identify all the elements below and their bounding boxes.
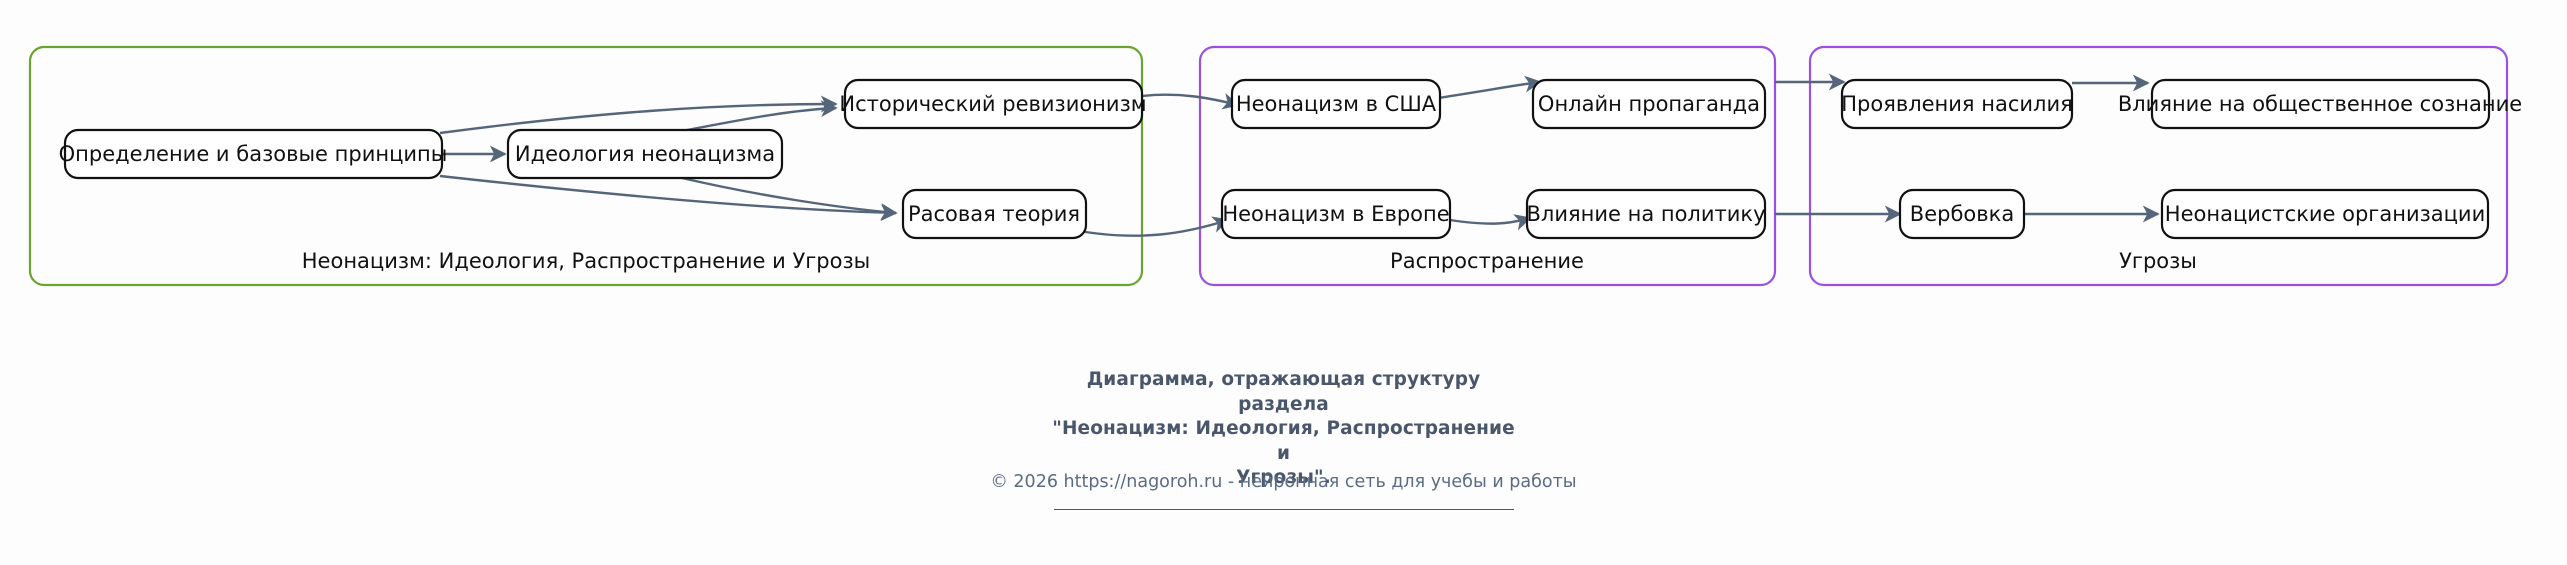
footer-copyright: © 2026 https://nagoroh.ru - нейронная се… [990,472,1576,492]
node-ideology-label: Идеология неонацизма [515,142,775,166]
node-organizations[interactable]: Неонацистские организации [2162,190,2488,238]
node-europe[interactable]: Неонацизм в Европе [1222,190,1450,238]
node-organizations-label: Неонацистские организации [2165,202,2485,226]
node-propaganda[interactable]: Онлайн пропаганда [1533,80,1765,128]
cluster-ideology-label: Неонацизм: Идеология, Распространение и … [302,249,870,273]
diagram-page: Неонацизм: Идеология, Распространение и … [0,0,2567,565]
caption-divider [1054,509,1514,510]
node-consciousness[interactable]: Влияние на общественное сознание [2118,80,2522,128]
node-propaganda-label: Онлайн пропаганда [1538,92,1760,116]
edge-usa-propaganda [1438,82,1540,98]
node-usa[interactable]: Неонацизм в США [1232,80,1440,128]
cluster-spread-label: Распространение [1390,249,1584,273]
node-revisionism[interactable]: Исторический ревизионизм [839,80,1146,128]
edge-definition-race-theory [440,176,896,213]
node-consciousness-label: Влияние на общественное сознание [2118,92,2522,116]
node-politics-label: Влияние на политику [1527,202,1766,226]
caption-line-1: Диаграмма, отражающая структуру раздела [1087,369,1481,415]
node-europe-label: Неонацизм в Европе [1222,202,1449,226]
page-footer: © 2026 https://nagoroh.ru - нейронная се… [0,472,2567,492]
node-usa-label: Неонацизм в США [1236,92,1437,116]
node-definition[interactable]: Определение и базовые принципы [59,130,448,178]
edge-revisionism-usa [1142,95,1238,105]
edge-race-theory-europe [1063,220,1228,236]
node-race-theory[interactable]: Расовая теория [903,190,1086,238]
node-recruitment[interactable]: Вербовка [1900,190,2024,238]
node-recruitment-label: Вербовка [1910,202,2014,226]
cluster-threats-label: Угрозы [2119,249,2197,273]
node-violence-label: Проявления насилия [1841,92,2073,116]
node-revisionism-label: Исторический ревизионизм [839,92,1146,116]
caption-line-2: "Неонацизм: Идеология, Распространение и [1052,418,1515,464]
node-definition-label: Определение и базовые принципы [59,142,448,166]
node-ideology[interactable]: Идеология неонацизма [508,130,782,178]
flowchart-svg: Неонацизм: Идеология, Распространение и … [0,0,2567,330]
edge-definition-revisionism [440,104,836,133]
node-race-theory-label: Расовая теория [908,202,1080,226]
node-violence[interactable]: Проявления насилия [1841,80,2073,128]
edge-ideology-revisionism [682,108,836,131]
edge-europe-politics [1450,218,1530,224]
node-politics[interactable]: Влияние на политику [1527,190,1766,238]
